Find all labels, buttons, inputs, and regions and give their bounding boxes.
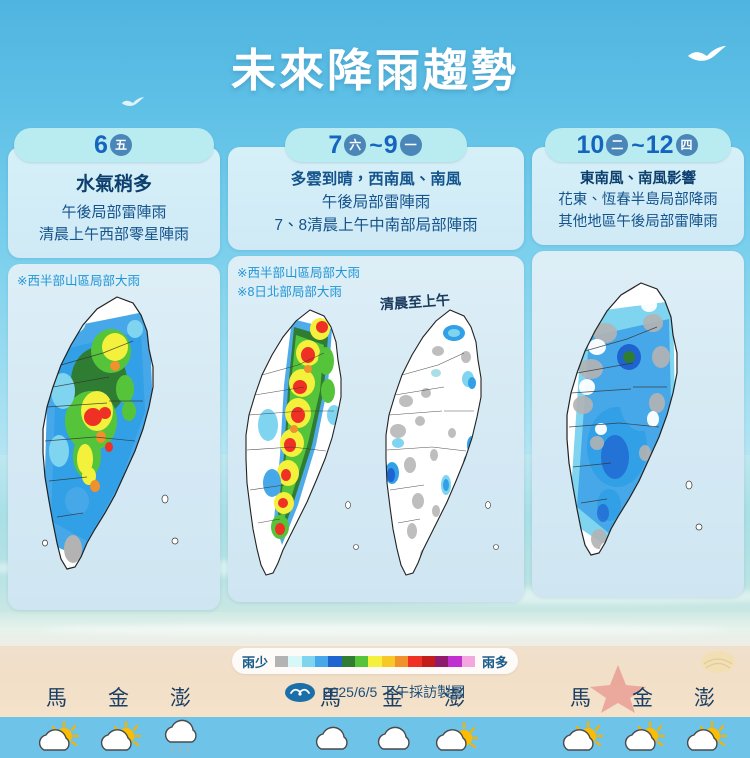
legend-swatch — [448, 656, 461, 667]
map-ridge-rain — [236, 305, 376, 583]
page-title: 未來降雨趨勢 — [0, 34, 750, 99]
legend-swatch — [395, 656, 408, 667]
partly-sunny-icon — [424, 716, 486, 758]
map-note: ※8日北部局部大雨 — [234, 283, 518, 302]
cwa-logo-icon — [285, 683, 315, 702]
legend-swatch — [355, 656, 368, 667]
map-row — [538, 277, 738, 565]
legend-swatch — [275, 656, 288, 667]
legend-swatch — [422, 656, 435, 667]
legend-swatch — [288, 656, 301, 667]
legend-swatch — [302, 656, 315, 667]
map-row — [234, 305, 518, 583]
map-row — [14, 291, 214, 579]
footer-text: 2025/6/5 下午採訪製圖 — [323, 682, 465, 702]
map-light-scattered — [376, 305, 516, 583]
legend-color-bar — [275, 656, 475, 667]
legend-swatch — [328, 656, 341, 667]
description-line: 其他地區午後局部雷陣雨 — [540, 212, 736, 233]
forecast-column-1: 6 五 水氣稍多 午後局部雷陣雨 清晨上午西部零星陣雨 ※西半部山區局部大雨 — [8, 128, 220, 610]
date-number: 12 — [646, 133, 674, 158]
weekday-badge: 六 — [344, 134, 366, 156]
map-note: ※西半部山區局部大雨 — [234, 264, 518, 283]
rain-cloud-icon — [150, 716, 212, 758]
rainfall-legend: 雨少 雨多 — [232, 648, 518, 674]
legend-swatch — [342, 656, 355, 667]
shell-icon — [700, 648, 736, 674]
legend-swatch — [408, 656, 421, 667]
date-badge-1: 6 五 — [14, 128, 214, 162]
date-number: 10 — [576, 133, 604, 158]
description-line: 7、8清晨上午中南部局部陣雨 — [236, 215, 516, 238]
range-separator: ~ — [631, 132, 644, 159]
legend-swatch — [435, 656, 448, 667]
legend-swatch — [382, 656, 395, 667]
map-card-3 — [532, 251, 744, 597]
description-card-2: 多雲到晴，西南風、南風 午後局部雷陣雨 7、8清晨上午中南部局部陣雨 — [228, 147, 524, 250]
description-line: 午後局部雷陣雨 — [16, 202, 212, 224]
legend-swatch — [462, 656, 475, 667]
footer: 2025/6/5 下午採訪製圖 — [0, 682, 750, 702]
partly-sunny-icon — [88, 716, 150, 758]
weekday-badge: 四 — [676, 134, 698, 156]
map-card-1: ※西半部山區局部大雨 — [8, 264, 220, 610]
weekday-badge: 五 — [110, 134, 132, 156]
date-number: 7 — [328, 133, 342, 158]
map-note: ※西半部山區局部大雨 — [14, 272, 214, 291]
forecast-column-3: 10 二 ~ 12 四 東南風、南風影響 花東、恆春半島局部降雨 其他地區午後局… — [532, 128, 744, 597]
legend-swatch — [368, 656, 381, 667]
partly-sunny-icon — [612, 716, 674, 758]
weekday-badge: 一 — [400, 134, 422, 156]
date-badge-2: 7 六 ~ 9 一 — [285, 128, 467, 162]
description-line: 午後局部雷陣雨 — [236, 192, 516, 215]
date-number: 6 — [94, 133, 108, 158]
weekday-badge: 二 — [606, 134, 628, 156]
partly-sunny-icon — [674, 716, 736, 758]
map-card-2: ※西半部山區局部大雨 ※8日北部局部大雨 清晨至上午 — [228, 256, 524, 602]
partly-sunny-icon — [26, 716, 88, 758]
date-badge-3: 10 二 ~ 12 四 — [545, 128, 731, 162]
description-line: 清晨上午西部零星陣雨 — [16, 224, 212, 246]
description-line: 多雲到晴，西南風、南風 — [236, 169, 516, 192]
legend-swatch — [315, 656, 328, 667]
partly-sunny-icon — [550, 716, 612, 758]
map-heavy-rain — [29, 291, 199, 579]
date-number: 9 — [384, 133, 398, 158]
forecast-column-2: 7 六 ~ 9 一 多雲到晴，西南風、南風 午後局部雷陣雨 7、8清晨上午中南部… — [228, 128, 524, 602]
legend-high-label: 雨多 — [482, 652, 508, 671]
legend-low-label: 雨少 — [242, 652, 268, 671]
infographic-stage: 未來降雨趨勢 6 五 水氣稍多 午後局部雷陣雨 清晨上午西部零星陣雨 ※西半部山… — [0, 0, 750, 717]
wave-line — [40, 624, 730, 636]
description-card-1: 水氣稍多 午後局部雷陣雨 清晨上午西部零星陣雨 — [8, 147, 220, 258]
description-line: 東南風、南風影響 — [540, 169, 736, 190]
map-broad-light — [553, 277, 723, 565]
cloudy-icon — [362, 716, 424, 758]
cloudy-icon — [300, 716, 362, 758]
headline-text: 水氣稍多 — [16, 169, 212, 196]
description-line: 花東、恆春半島局部降雨 — [540, 190, 736, 211]
range-separator: ~ — [369, 132, 382, 159]
